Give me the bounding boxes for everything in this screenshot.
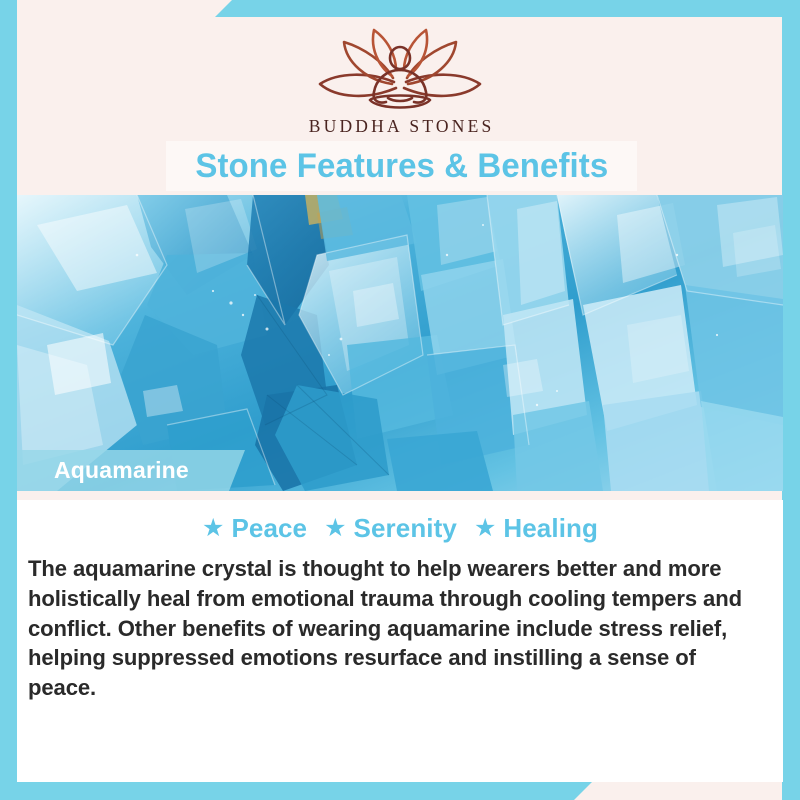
keyword-list: ★ Peace ★ Serenity ★ Healing	[17, 500, 783, 544]
keyword-item-healing: ★ Healing	[474, 513, 598, 544]
stone-name-text: Aquamarine	[54, 457, 189, 484]
brand-name: BUDDHA STONES	[0, 116, 800, 137]
keyword-label: Peace	[231, 513, 307, 544]
hero-image: Aquamarine	[17, 195, 783, 491]
keyword-item-peace: ★ Peace	[202, 513, 307, 544]
keyword-item-serenity: ★ Serenity	[324, 513, 457, 544]
headline-banner: Stone Features & Benefits	[166, 141, 637, 191]
star-icon: ★	[324, 516, 346, 541]
keyword-label: Serenity	[354, 513, 457, 544]
decor-band-top	[215, 0, 800, 17]
keyword-label: Healing	[503, 513, 598, 544]
decor-band-bottom	[0, 782, 592, 800]
content-panel: ★ Peace ★ Serenity ★ Healing The aquamar…	[17, 500, 783, 782]
brand-logo: BUDDHA STONES	[0, 22, 800, 137]
lotus-meditation-icon	[308, 22, 492, 114]
page-title: Stone Features & Benefits	[195, 147, 608, 186]
infographic-page: BUDDHA STONES Stone Features & Benefits	[0, 0, 800, 800]
aquamarine-crystal-illustration	[17, 195, 783, 491]
stone-name-label: Aquamarine	[17, 450, 245, 491]
star-icon: ★	[474, 516, 496, 541]
description-text: The aquamarine crystal is thought to hel…	[28, 554, 761, 703]
star-icon: ★	[202, 516, 224, 541]
